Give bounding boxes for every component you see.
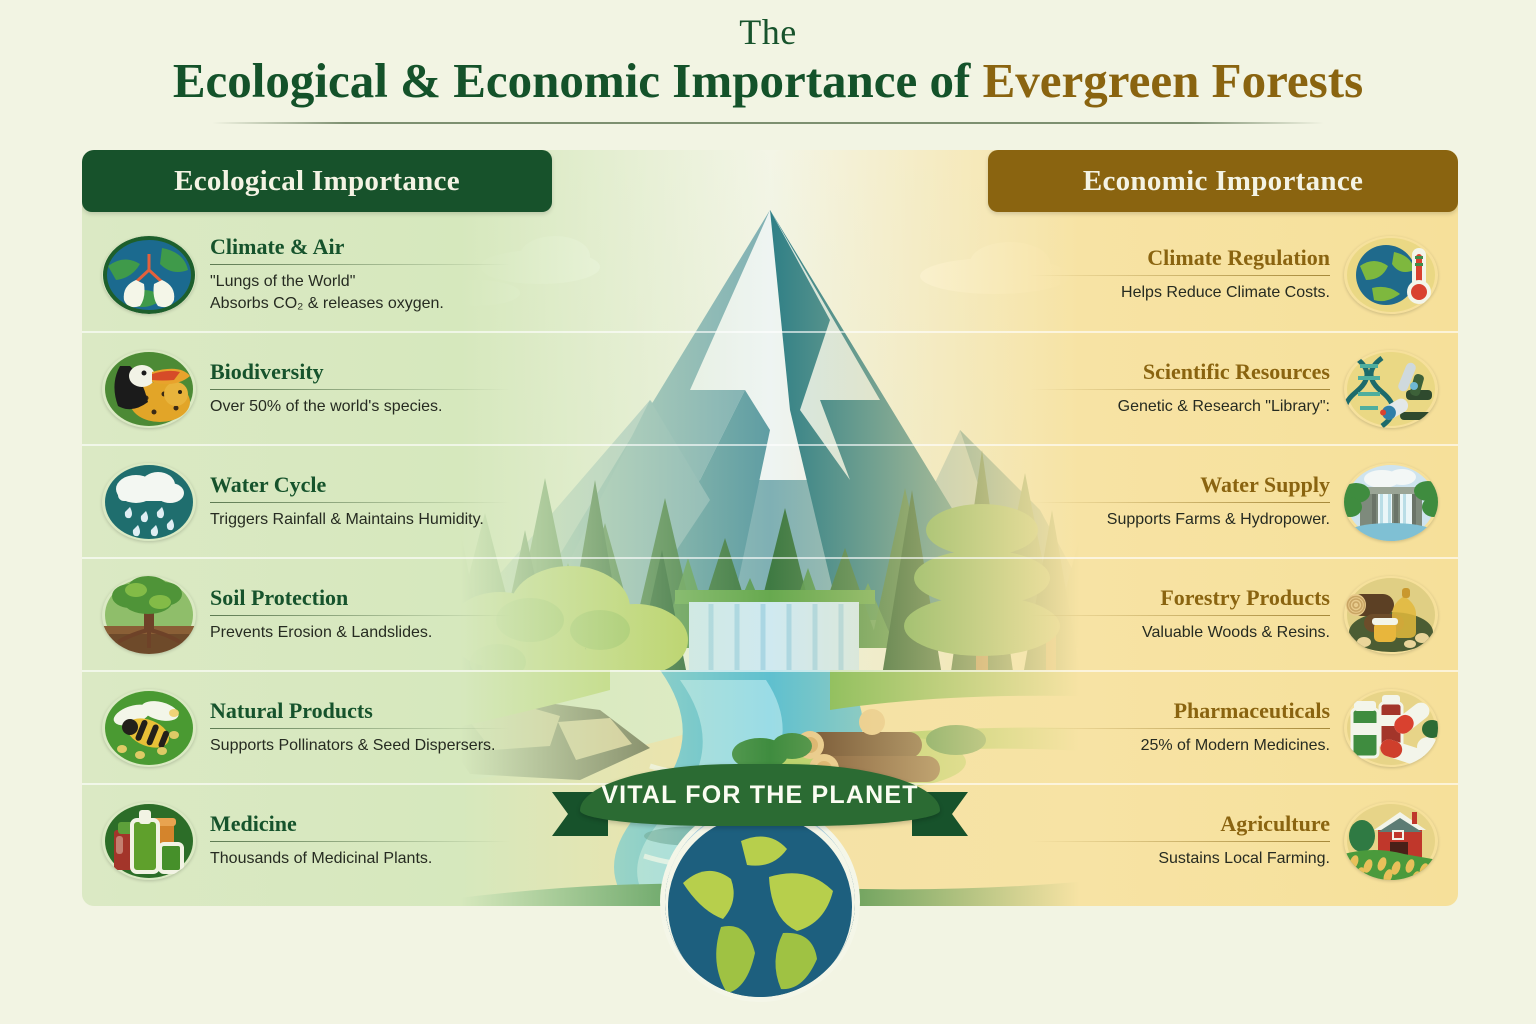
item-desc-1: Supports Farms & Hydropower.: [1030, 509, 1330, 530]
dam-hydropower-icon: [1344, 463, 1438, 541]
item-title: Climate & Air: [210, 235, 510, 259]
ecological-importance-header: Ecological Importance: [82, 150, 552, 212]
item-text: Water Cycle Triggers Rainfall & Maintain…: [196, 473, 524, 530]
item-desc-1: Valuable Woods & Resins.: [1030, 622, 1330, 643]
item-title: Forestry Products: [1030, 586, 1330, 610]
item-text: Forestry Products Valuable Woods & Resin…: [1016, 586, 1344, 643]
item-title: Water Cycle: [210, 473, 510, 497]
item-text: Agriculture Sustains Local Farming.: [1016, 812, 1344, 869]
list-item[interactable]: Water Supply Supports Farms & Hydropower…: [770, 444, 1458, 557]
item-desc-1: "Lungs of the World": [210, 271, 510, 292]
item-title: Climate Regulation: [1030, 246, 1330, 270]
item-desc-2: Absorbs CO₂ & releases oxygen.: [210, 293, 510, 314]
item-title: Biodiversity: [210, 360, 510, 384]
list-item[interactable]: Biodiversity Over 50% of the world's spe…: [82, 331, 770, 444]
title-divider: [212, 122, 1324, 124]
list-item[interactable]: Water Cycle Triggers Rainfall & Maintain…: [82, 444, 770, 557]
list-item[interactable]: Climate Regulation Helps Reduce Climate …: [770, 218, 1458, 331]
title-prefix: The: [0, 14, 1536, 52]
pills-bottles-icon: [1344, 689, 1438, 767]
item-divider: [210, 615, 510, 616]
item-divider: [210, 389, 510, 390]
item-title: Agriculture: [1030, 812, 1330, 836]
item-text: Medicine Thousands of Medicinal Plants.: [196, 812, 524, 869]
ribbon-label: VITAL FOR THE PLANET: [601, 781, 919, 810]
list-item[interactable]: Forestry Products Valuable Woods & Resin…: [770, 557, 1458, 670]
page-title: The Ecological & Economic Importance of …: [0, 14, 1536, 124]
item-title: Natural Products: [210, 699, 510, 723]
item-divider: [210, 264, 510, 265]
item-divider: [1030, 728, 1330, 729]
item-desc-1: Thousands of Medicinal Plants.: [210, 848, 510, 869]
item-desc-1: Triggers Rainfall & Maintains Humidity.: [210, 509, 510, 530]
item-title: Soil Protection: [210, 586, 510, 610]
item-text: Soil Protection Prevents Erosion & Lands…: [196, 586, 524, 643]
economic-importance-header: Economic Importance: [988, 150, 1458, 212]
tree-roots-soil-icon: [102, 576, 196, 654]
barn-field-icon: [1344, 802, 1438, 880]
item-text: Biodiversity Over 50% of the world's spe…: [196, 360, 524, 417]
item-title: Water Supply: [1030, 473, 1330, 497]
item-desc-1: 25% of Modern Medicines.: [1030, 735, 1330, 756]
item-text: Climate & Air "Lungs of the World" Absor…: [196, 235, 524, 314]
item-desc-1: Sustains Local Farming.: [1030, 848, 1330, 869]
medicine-bottles-icon: [102, 802, 196, 880]
item-divider: [1030, 389, 1330, 390]
item-desc-1: Helps Reduce Climate Costs.: [1030, 282, 1330, 303]
item-text: Pharmaceuticals 25% of Modern Medicines.: [1016, 699, 1344, 756]
item-title: Scientific Resources: [1030, 360, 1330, 384]
globe-icon: [660, 802, 860, 1002]
list-item[interactable]: Soil Protection Prevents Erosion & Lands…: [82, 557, 770, 670]
item-text: Water Supply Supports Farms & Hydropower…: [1016, 473, 1344, 530]
item-title: Medicine: [210, 812, 510, 836]
logs-resin-icon: [1344, 576, 1438, 654]
item-divider: [210, 502, 510, 503]
vital-banner: VITAL FOR THE PLANET: [552, 758, 968, 928]
item-text: Climate Regulation Helps Reduce Climate …: [1016, 246, 1344, 303]
title-part-evergreen: Evergreen Forests: [983, 53, 1364, 108]
item-desc-1: Prevents Erosion & Landslides.: [210, 622, 510, 643]
toucan-jaguar-icon: [102, 350, 196, 428]
dna-microscope-icon: [1344, 350, 1438, 428]
ribbon-band: VITAL FOR THE PLANET: [580, 764, 940, 826]
title-main: Ecological & Economic Importance of Ever…: [0, 54, 1536, 108]
item-desc-1: Genetic & Research "Library":: [1030, 396, 1330, 417]
item-divider: [1030, 841, 1330, 842]
item-text: Natural Products Supports Pollinators & …: [196, 699, 524, 756]
item-desc-1: Over 50% of the world's species.: [210, 396, 510, 417]
title-part-ecological: Ecological & Economic Importance of: [173, 53, 983, 108]
item-divider: [1030, 615, 1330, 616]
rain-cloud-icon: [102, 463, 196, 541]
earth-lungs-icon: [102, 236, 196, 314]
item-text: Scientific Resources Genetic & Research …: [1016, 360, 1344, 417]
list-item[interactable]: Climate & Air "Lungs of the World" Absor…: [82, 218, 770, 331]
item-title: Pharmaceuticals: [1030, 699, 1330, 723]
item-divider: [210, 841, 510, 842]
item-divider: [210, 728, 510, 729]
bee-pollinator-icon: [102, 689, 196, 767]
item-desc-1: Supports Pollinators & Seed Dispersers.: [210, 735, 510, 756]
item-divider: [1030, 502, 1330, 503]
item-divider: [1030, 275, 1330, 276]
list-item[interactable]: Scientific Resources Genetic & Research …: [770, 331, 1458, 444]
globe-thermometer-icon: [1344, 236, 1438, 314]
